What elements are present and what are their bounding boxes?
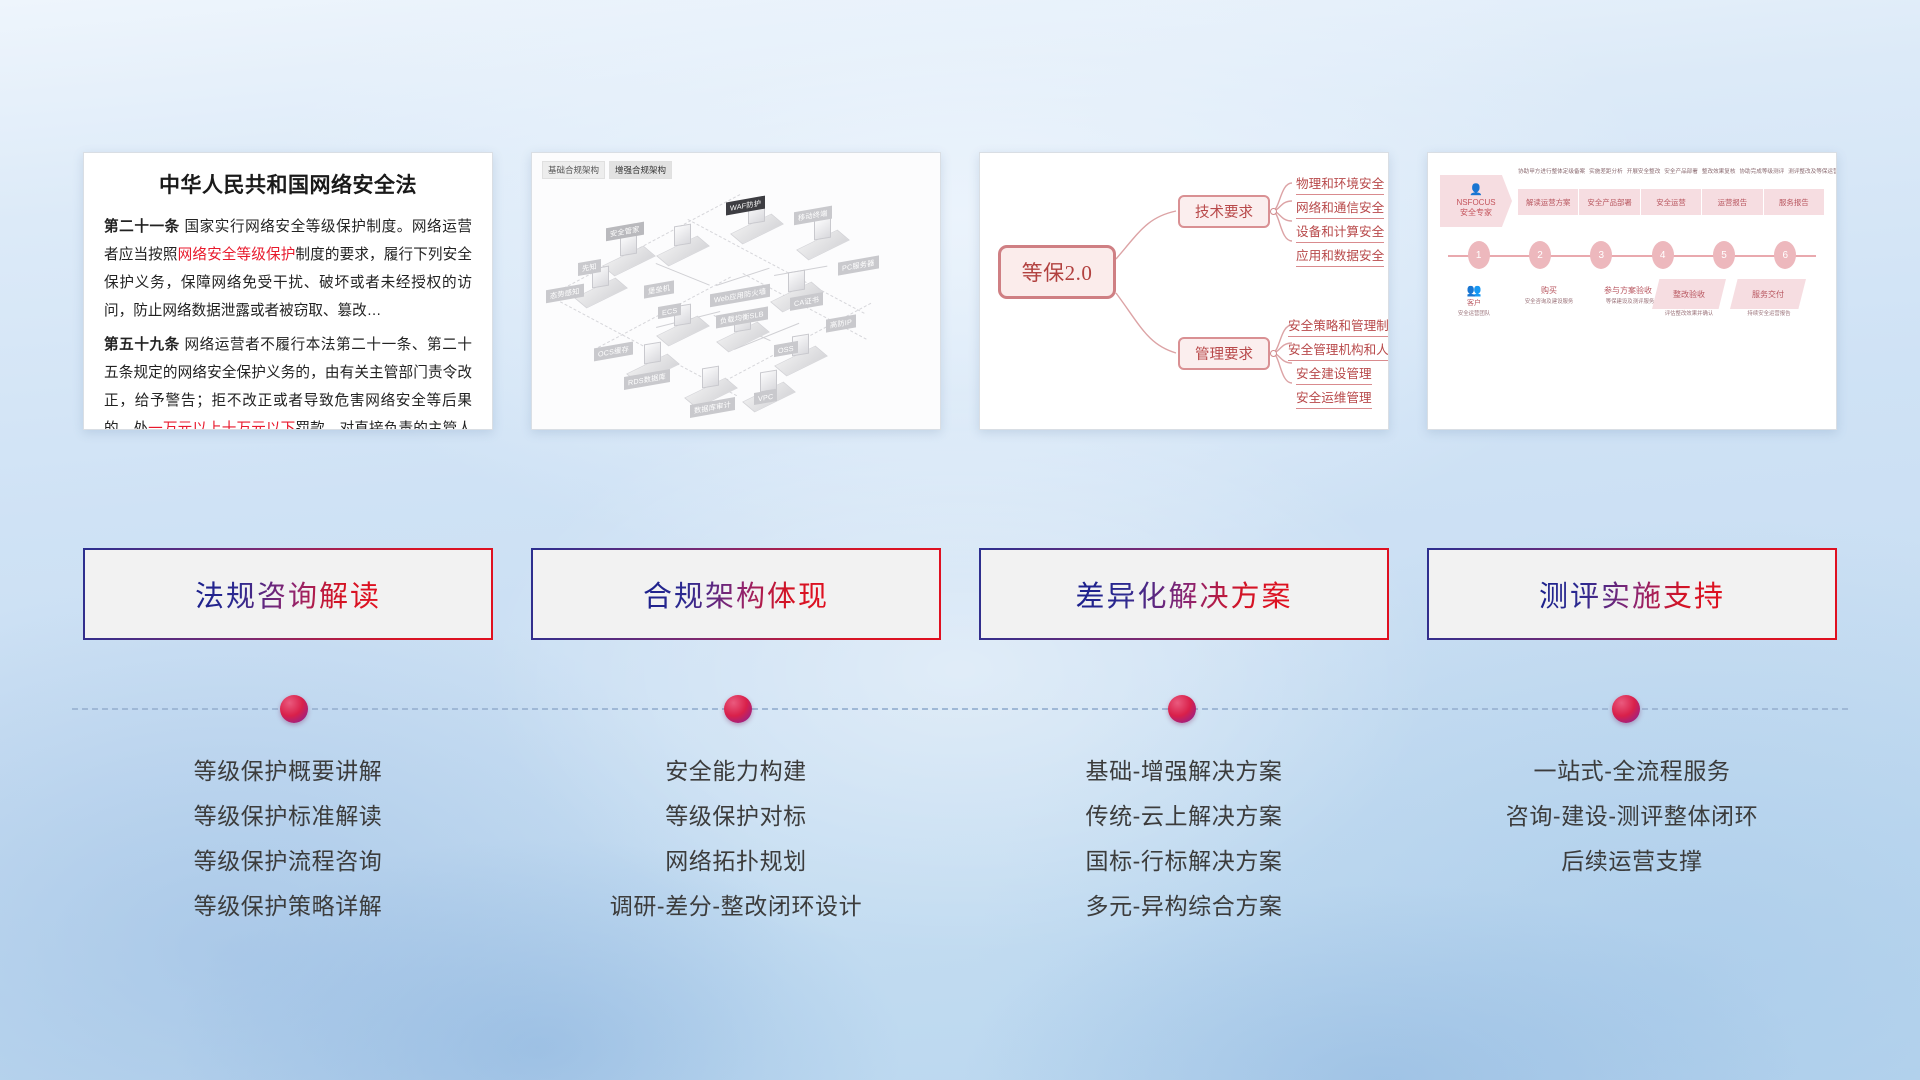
nsfocus-service-band: 解读运营方案 安全产品部署 安全运营 运营报告 服务报告 bbox=[1518, 189, 1824, 215]
nsfocus-persona-sub: 安全咨询及建设服务 bbox=[1506, 299, 1592, 306]
list-item: 等级保护概要讲解 bbox=[194, 752, 383, 786]
section-list-differentiated-solutions: 基础-增强解决方案 传统-云上解决方案 国标-行标解决方案 多元-异构综合方案 bbox=[979, 742, 1389, 921]
nsfocus-step[interactable]: 5 bbox=[1693, 241, 1754, 269]
list-item: 后续运营支撑 bbox=[1561, 842, 1703, 876]
timeline-dot[interactable] bbox=[280, 695, 308, 723]
list-item: 网络拓扑规划 bbox=[665, 842, 807, 876]
nsfocus-persona-sub: 评估整改效果并确认 bbox=[1646, 311, 1732, 318]
mindmap-leaf-device-compute: 设备和计算安全 bbox=[1296, 221, 1384, 243]
nsfocus-brand-chevron: 👤 NSFOCUS 安全专家 bbox=[1440, 175, 1512, 227]
section-list-compliance-architecture: 安全能力构建 等级保护对标 网络拓扑规划 调研-差分-整改闭环设计 bbox=[531, 742, 941, 921]
list-item: 一站式-全流程服务 bbox=[1533, 752, 1730, 786]
nsfocus-band-item: 解读运营方案 bbox=[1518, 189, 1579, 215]
law-article-21-highlight: 网络安全等级保护 bbox=[178, 247, 296, 263]
section-header-compliance-architecture[interactable]: 合规架构体现 bbox=[531, 548, 941, 640]
nsfocus-step-number: 1 bbox=[1468, 241, 1490, 269]
mindmap-leaf-physical-env: 物理和环境安全 bbox=[1296, 173, 1384, 195]
nsfocus-step-number: 4 bbox=[1652, 241, 1674, 269]
iso-box bbox=[644, 342, 661, 365]
nsfocus-brand: NSFOCUS bbox=[1456, 198, 1495, 209]
iso-box bbox=[702, 366, 719, 389]
list-item: 安全能力构建 bbox=[665, 752, 807, 786]
list-item: 国标-行标解决方案 bbox=[1085, 842, 1282, 876]
card-cybersecurity-law[interactable]: 中华人民共和国网络安全法 第二十一条 国家实行网络安全等级保护制度。网络运营者应… bbox=[83, 152, 493, 430]
nsfocus-step[interactable]: 2 bbox=[1509, 241, 1570, 269]
law-article-59-label: 第五十九条 bbox=[104, 337, 180, 353]
nsfocus-step-number: 3 bbox=[1590, 241, 1612, 269]
section-header-label: 差异化解决方案 bbox=[1075, 573, 1292, 615]
nsfocus-persona-delivery: 服务交付 bbox=[1730, 279, 1806, 309]
nsfocus-step[interactable]: 3 bbox=[1571, 241, 1632, 269]
law-article-21-label: 第二十一条 bbox=[104, 219, 180, 235]
list-item: 咨询-建设-测评整体闭环 bbox=[1506, 797, 1759, 831]
node-label-baoleiji: 堡垒机 bbox=[644, 280, 674, 298]
architecture-canvas: WAF防护 安全管家 先知 态势感知 堡垒机 移动终端 PC服务器 CA证书 高… bbox=[538, 177, 934, 423]
list-item: 传统-云上解决方案 bbox=[1085, 797, 1282, 831]
timeline bbox=[72, 694, 1848, 724]
nsfocus-step-number: 6 bbox=[1774, 241, 1796, 269]
nsfocus-brand-sub: 安全专家 bbox=[1460, 208, 1492, 219]
nsfocus-step[interactable]: 1 bbox=[1448, 241, 1509, 269]
list-item: 调研-差分-整改闭环设计 bbox=[610, 887, 863, 921]
node-label-pc: PC服务器 bbox=[838, 255, 879, 275]
timeline-dot[interactable] bbox=[724, 695, 752, 723]
nsfocus-persona-accept: 整改验收 bbox=[1652, 279, 1726, 309]
section-lists-row: 等级保护概要讲解 等级保护标准解读 等级保护流程咨询 等级保护策略详解 安全能力… bbox=[0, 742, 1920, 921]
nsfocus-top-label: 实施差距分析 bbox=[1589, 169, 1623, 176]
nsfocus-step-number: 5 bbox=[1713, 241, 1735, 269]
section-headers-row: 法规咨询解读 合规架构体现 差异化解决方案 测评实施支持 bbox=[0, 548, 1920, 640]
nsfocus-step[interactable]: 6 bbox=[1755, 241, 1816, 269]
nsfocus-persona-sub: 持续安全运营报告 bbox=[1726, 311, 1812, 318]
section-header-regulation-consulting[interactable]: 法规咨询解读 bbox=[83, 548, 493, 640]
mindmap-branch-technical[interactable]: 技术要求 bbox=[1178, 195, 1270, 228]
law-article-21: 第二十一条 国家实行网络安全等级保护制度。网络运营者应当按照网络安全等级保护制度… bbox=[104, 213, 472, 325]
iso-box bbox=[674, 224, 691, 247]
nsfocus-top-label: 协助甲方进行整体定级备案 bbox=[1518, 169, 1585, 176]
card-mindmap[interactable]: 等保2.0 技术要求 物理和环境安全 网络和通信安全 设备和计算安全 应用和数据… bbox=[979, 152, 1389, 430]
list-item: 基础-增强解决方案 bbox=[1085, 752, 1282, 786]
section-header-label: 合规架构体现 bbox=[643, 573, 829, 615]
section-header-assessment-support[interactable]: 测评实施支持 bbox=[1427, 548, 1837, 640]
timeline-dot[interactable] bbox=[1612, 695, 1640, 723]
nsfocus-step-markers: 1 2 3 4 5 6 bbox=[1448, 241, 1816, 269]
customer-icon: 👥 bbox=[1442, 281, 1506, 299]
list-item: 等级保护对标 bbox=[665, 797, 807, 831]
nsfocus-customer-block: 👥 客户 安全运营团队 bbox=[1442, 281, 1506, 318]
nsfocus-band-item: 安全运营 bbox=[1641, 189, 1702, 215]
nsfocus-persona-purchase: 购买 bbox=[1522, 285, 1576, 296]
mindmap-leaf-org-personnel: 安全管理机构和人员 bbox=[1288, 339, 1389, 361]
nsfocus-step-number: 2 bbox=[1529, 241, 1551, 269]
nsfocus-band-item: 服务报告 bbox=[1764, 189, 1824, 215]
mindmap-leaf-construction-mgmt: 安全建设管理 bbox=[1296, 363, 1372, 385]
node-label-web-waf: Web应用防火墙 bbox=[710, 284, 770, 308]
card-cloud-architecture[interactable]: 基础合规架构 增强合规架构 bbox=[531, 152, 941, 430]
card-nsfocus-timeline[interactable]: 👤 NSFOCUS 安全专家 协助甲方进行整体定级备案 实施差距分析 开展安全整… bbox=[1427, 152, 1837, 430]
law-article-59: 第五十九条 网络运营者不履行本法第二十一条、第二十五条规定的网络安全保护义务的，… bbox=[104, 331, 472, 430]
mindmap-collapse-dot-technical[interactable] bbox=[1270, 208, 1277, 215]
law-title: 中华人民共和国网络安全法 bbox=[104, 169, 472, 199]
nsfocus-expert-icon: 👤 bbox=[1469, 183, 1483, 198]
list-item: 等级保护流程咨询 bbox=[194, 842, 383, 876]
nsfocus-top-label: 整改效果复核 bbox=[1702, 169, 1736, 176]
nsfocus-top-label: 协助完成等级测评 bbox=[1739, 169, 1784, 176]
nsfocus-top-labels: 协助甲方进行整体定级备案 实施差距分析 开展安全整改 安全产品部署 整改效果复核… bbox=[1518, 169, 1824, 176]
section-header-label: 测评实施支持 bbox=[1539, 573, 1725, 615]
nsfocus-top-label: 开展安全整改 bbox=[1627, 169, 1661, 176]
list-item: 等级保护策略详解 bbox=[194, 887, 383, 921]
mindmap-root-node[interactable]: 等保2.0 bbox=[998, 245, 1116, 299]
preview-cards-row: 中华人民共和国网络安全法 第二十一条 国家实行网络安全等级保护制度。网络运营者应… bbox=[0, 152, 1920, 442]
nsfocus-user-sub: 安全运营团队 bbox=[1442, 310, 1506, 318]
mindmap-branch-management[interactable]: 管理要求 bbox=[1178, 337, 1270, 370]
timeline-dots bbox=[72, 694, 1848, 724]
iso-box bbox=[788, 270, 805, 293]
timeline-slot bbox=[516, 694, 960, 724]
nsfocus-band-item: 运营报告 bbox=[1702, 189, 1763, 215]
timeline-slot bbox=[960, 694, 1404, 724]
timeline-slot bbox=[1404, 694, 1848, 724]
timeline-dot[interactable] bbox=[1168, 695, 1196, 723]
guide-line bbox=[550, 194, 740, 296]
nsfocus-persona-review: 参与方案验收 bbox=[1590, 285, 1666, 296]
nsfocus-top-label: 安全产品部署 bbox=[1664, 169, 1698, 176]
list-item: 多元-异构综合方案 bbox=[1085, 887, 1282, 921]
list-item: 等级保护标准解读 bbox=[194, 797, 383, 831]
mindmap-leaf-ops-mgmt: 安全运维管理 bbox=[1296, 387, 1372, 409]
mindmap-leaf-app-data: 应用和数据安全 bbox=[1296, 245, 1384, 267]
nsfocus-band-item: 安全产品部署 bbox=[1579, 189, 1640, 215]
timeline-slot bbox=[72, 694, 516, 724]
nsfocus-top-label: 测评整改及等保运营工作交付 bbox=[1788, 169, 1837, 176]
section-list-assessment-support: 一站式-全流程服务 咨询-建设-测评整体闭环 后续运营支撑 bbox=[1427, 742, 1837, 921]
mindmap-leaf-policy-system: 安全策略和管理制度 bbox=[1288, 315, 1389, 337]
section-header-label: 法规咨询解读 bbox=[195, 573, 381, 615]
nsfocus-user-label: 客户 bbox=[1467, 300, 1481, 307]
nsfocus-diagram: 👤 NSFOCUS 安全专家 协助甲方进行整体定级备案 实施差距分析 开展安全整… bbox=[1440, 163, 1824, 419]
section-list-regulation-consulting: 等级保护概要讲解 等级保护标准解读 等级保护流程咨询 等级保护策略详解 bbox=[83, 742, 493, 921]
section-header-differentiated-solutions[interactable]: 差异化解决方案 bbox=[979, 548, 1389, 640]
mindmap-leaf-network-comm: 网络和通信安全 bbox=[1296, 197, 1384, 219]
law-article-59-highlight-a: 一万元以上十万元以下 bbox=[148, 421, 295, 430]
nsfocus-step[interactable]: 4 bbox=[1632, 241, 1693, 269]
mindmap-collapse-dot-management[interactable] bbox=[1270, 350, 1277, 357]
